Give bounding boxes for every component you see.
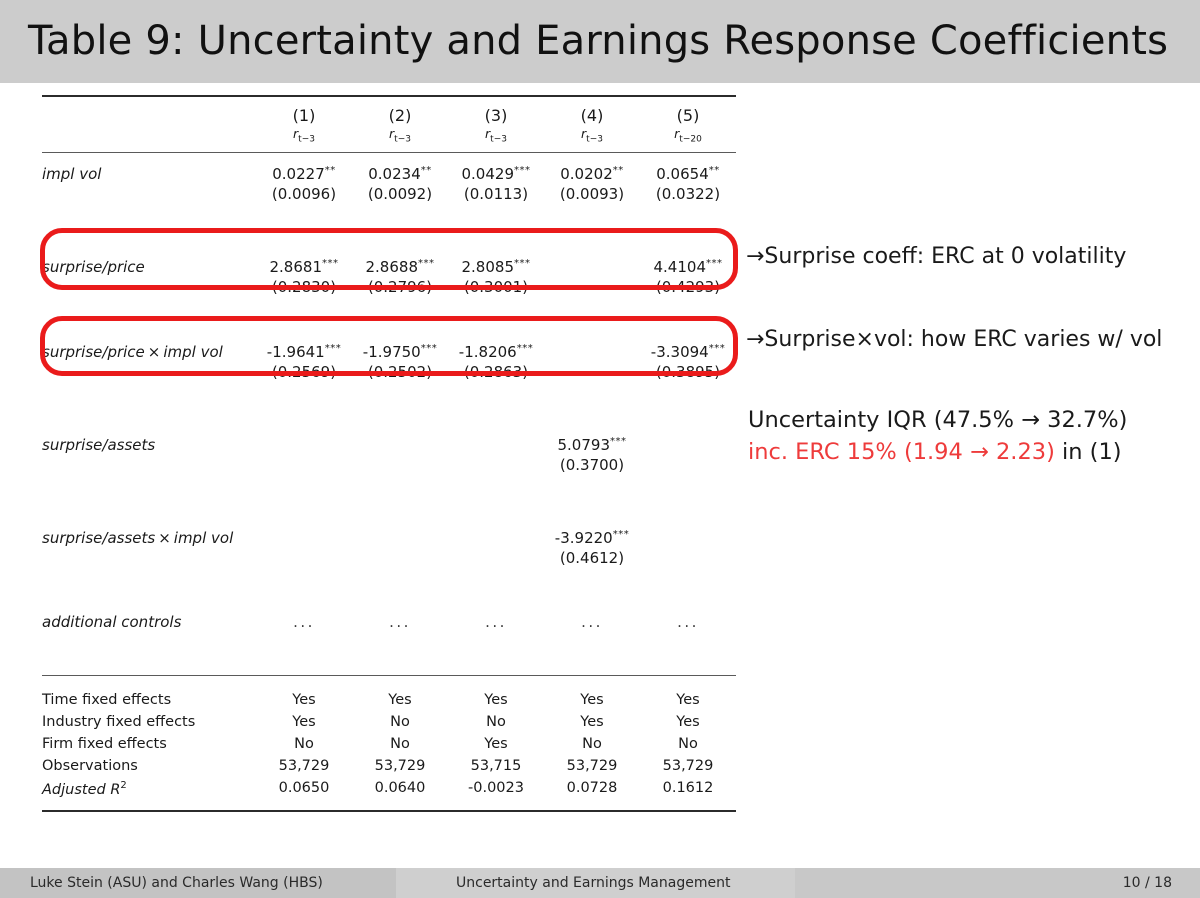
se-surprise-assets-2 [352,454,448,476]
se-surprise-price-5: (0.4293) [640,276,736,298]
stat-industry-fe-1: Yes [256,711,352,733]
slide-title-bar: Table 9: Uncertainty and Earnings Respon… [0,0,1200,83]
stat-industry-fe-4: Yes [544,711,640,733]
depvar-subscript-5: t−20 [679,135,702,145]
coef-surprise-price-5: 4.4104*** [640,249,736,276]
se-surprise-assets-4: (0.3700) [544,454,640,476]
stat-adjusted-r2-3: -0.0023 [448,777,544,801]
coef-value: -1.8206 [459,343,517,361]
table-row: surprise/assets×impl vol -3.9220*** [42,520,736,547]
depvar-1: rt−3 [256,126,352,152]
significance-stars: ** [613,165,624,176]
table-row: surprise/assets 5.0793*** [42,427,736,454]
stat-firm-fe-5: No [640,733,736,755]
se-surprise-price-vol-1: (0.2569) [256,361,352,383]
se-surprise-price-3: (0.3001) [448,276,544,298]
se-surprise-assets-3 [448,454,544,476]
page-title: Table 9: Uncertainty and Earnings Respon… [28,18,1168,64]
controls-dots-2: ... [352,613,448,631]
table-row-se: (0.2830) (0.2796) (0.3001) (0.4293) [42,276,736,298]
table-header-depvars: rt−3 rt−3 rt−3 rt−3 rt−20 [42,126,736,152]
coef-surprise-assets-1 [256,427,352,454]
controls-dots-4: ... [544,613,640,631]
coef-impl-vol-3: 0.0429*** [448,156,544,183]
stat-observations-3: 53,715 [448,755,544,777]
regression-table: (1) (2) (3) (4) (5) rt−3 rt−3 rt−3 rt−3 … [42,95,736,815]
footer-title: Uncertainty and Earnings Management [456,875,730,891]
significance-stars: *** [421,343,438,354]
significance-stars: *** [709,343,726,354]
significance-stars: ** [421,165,432,176]
controls-dots-5: ... [640,613,736,631]
coef-value: 5.0793 [558,436,611,454]
coef-surprise-assets-4: 5.0793*** [544,427,640,454]
se-impl-vol-1: (0.0096) [256,183,352,205]
table-row-se: (0.3700) [42,454,736,476]
se-surprise-price-1: (0.2830) [256,276,352,298]
annotation-surprise-coeff: →Surprise coeff: ERC at 0 volatility [746,242,1126,272]
stat-observations-1: 53,729 [256,755,352,777]
footer-authors: Luke Stein (ASU) and Charles Wang (HBS) [30,875,323,891]
table-row-se: (0.4612) [42,547,736,569]
stat-time-fe-4: Yes [544,689,640,711]
row-label-surprise-assets: surprise/assets [42,427,256,454]
stats-row-time-fe: Time fixed effects Yes Yes Yes Yes Yes [42,689,736,711]
stat-industry-fe-3: No [448,711,544,733]
se-surprise-price-vol-4 [544,361,640,383]
coef-value: 2.8085 [462,258,515,276]
stat-label-text: Adjusted R [42,781,120,797]
coef-value: -1.9641 [267,343,325,361]
significance-stars: *** [322,258,339,269]
stat-industry-fe-5: Yes [640,711,736,733]
row-label-surprise-price: surprise/price [42,249,256,276]
depvar-4: rt−3 [544,126,640,152]
significance-stars: ** [709,165,720,176]
stat-time-fe-2: Yes [352,689,448,711]
stat-label-adjusted-r2: Adjusted R2 [42,777,256,801]
stat-adjusted-r2-1: 0.0650 [256,777,352,801]
coef-value: 0.0227 [272,165,325,183]
coef-value: 2.8688 [366,258,419,276]
stat-label-firm-fe: Firm fixed effects [42,733,256,755]
se-label-blank [42,361,256,383]
coef-value: 0.0234 [368,165,421,183]
coef-surprise-price-vol-1: -1.9641*** [256,334,352,361]
coef-surprise-assets-vol-1 [256,520,352,547]
coef-surprise-assets-vol-4: -3.9220*** [544,520,640,547]
annotation-iqr-column-ref: in (1) [1055,439,1122,465]
se-surprise-price-vol-2: (0.2502) [352,361,448,383]
table-header-numbers: (1) (2) (3) (4) (5) [42,100,736,126]
depvar-2: rt−3 [352,126,448,152]
footer-page-number: 10 / 18 [1123,875,1172,891]
coef-surprise-price-vol-3: -1.8206*** [448,334,544,361]
coef-value: -3.3094 [651,343,709,361]
row-spacer [42,383,736,427]
depvar-subscript-1: t−3 [298,135,315,145]
label-part-pre: surprise/assets [42,529,155,547]
annotation-surprise-vol: →Surprise×vol: how ERC varies w/ vol [746,325,1162,355]
coef-value: 4.4104 [654,258,707,276]
column-header-2: (2) [352,100,448,126]
stat-label-time-fe: Time fixed effects [42,689,256,711]
se-surprise-assets-vol-2 [352,547,448,569]
se-surprise-assets-vol-5 [640,547,736,569]
coef-value: 0.0202 [560,165,613,183]
se-surprise-price-vol-5: (0.3895) [640,361,736,383]
coef-impl-vol-2: 0.0234** [352,156,448,183]
se-surprise-price-2: (0.2796) [352,276,448,298]
coef-surprise-price-vol-5: -3.3094*** [640,334,736,361]
row-spacer [42,298,736,334]
slide-footer: Luke Stein (ASU) and Charles Wang (HBS) … [0,868,1200,898]
se-impl-vol-4: (0.0093) [544,183,640,205]
stat-firm-fe-1: No [256,733,352,755]
depvar-3: rt−3 [448,126,544,152]
annotation-iqr-erc-red: inc. ERC 15% (1.94 → 2.23) [748,439,1055,465]
row-label-additional-controls: additional controls [42,613,256,631]
se-surprise-assets-vol-4: (0.4612) [544,547,640,569]
multiply-icon: × [145,343,164,361]
depvar-corner-blank [42,126,256,152]
coef-value: -3.9220 [555,529,613,547]
se-label-blank [42,183,256,205]
column-header-5: (5) [640,100,736,126]
coef-surprise-assets-5 [640,427,736,454]
depvar-subscript-4: t−3 [586,135,603,145]
significance-stars: *** [514,258,531,269]
se-label-blank [42,547,256,569]
row-label-surprise-assets-x-impl-vol: surprise/assets×impl vol [42,520,256,547]
stats-row-firm-fe: Firm fixed effects No No Yes No No [42,733,736,755]
annotation-uncertainty-iqr: Uncertainty IQR (47.5% → 32.7%) inc. ERC… [748,405,1127,469]
row-label-impl-vol: impl vol [42,156,256,183]
se-impl-vol-3: (0.0113) [448,183,544,205]
row-spacer [42,679,736,689]
se-surprise-assets-vol-1 [256,547,352,569]
significance-stars: *** [517,343,534,354]
depvar-subscript-2: t−3 [394,135,411,145]
coef-surprise-price-3: 2.8085*** [448,249,544,276]
table-rule-bottom [42,811,736,815]
coef-surprise-price-vol-4 [544,334,640,361]
significance-stars: ** [325,165,336,176]
slide-body: (1) (2) (3) (4) (5) rt−3 rt−3 rt−3 rt−3 … [0,83,1200,865]
table-row-se: (0.0096) (0.0092) (0.0113) (0.0093) (0.0… [42,183,736,205]
table-row-additional-controls: additional controls ... ... ... ... ... [42,613,736,631]
depvar-subscript-3: t−3 [490,135,507,145]
table-row: surprise/price×impl vol -1.9641*** -1.97… [42,334,736,361]
stat-firm-fe-2: No [352,733,448,755]
column-header-4: (4) [544,100,640,126]
se-surprise-assets-vol-3 [448,547,544,569]
column-header-1: (1) [256,100,352,126]
coef-surprise-price-4 [544,249,640,276]
stat-time-fe-1: Yes [256,689,352,711]
coef-surprise-assets-vol-2 [352,520,448,547]
coef-surprise-price-1: 2.8681*** [256,249,352,276]
stat-adjusted-r2-4: 0.0728 [544,777,640,801]
se-surprise-assets-1 [256,454,352,476]
row-spacer [42,800,736,811]
row-spacer [42,476,736,520]
row-spacer [42,569,736,613]
label-part-post: impl vol [174,529,233,547]
significance-stars: *** [514,165,531,176]
se-label-blank [42,454,256,476]
coef-surprise-assets-2 [352,427,448,454]
coef-value: 0.0429 [462,165,515,183]
stat-time-fe-5: Yes [640,689,736,711]
stat-firm-fe-4: No [544,733,640,755]
stat-label-observations: Observations [42,755,256,777]
significance-stars: *** [613,529,630,540]
significance-stars: *** [418,258,435,269]
controls-dots-3: ... [448,613,544,631]
stats-row-observations: Observations 53,729 53,729 53,715 53,729… [42,755,736,777]
se-surprise-price-vol-3: (0.2863) [448,361,544,383]
table-row: surprise/price 2.8681*** 2.8688*** 2.808… [42,249,736,276]
significance-stars: *** [610,436,627,447]
stats-row-adjusted-r2: Adjusted R2 0.0650 0.0640 -0.0023 0.0728… [42,777,736,801]
stat-adjusted-r2-5: 0.1612 [640,777,736,801]
coef-impl-vol-1: 0.0227** [256,156,352,183]
label-part-pre: surprise/price [42,343,145,361]
stat-adjusted-r2-2: 0.0640 [352,777,448,801]
stats-row-industry-fe: Industry fixed effects Yes No No Yes Yes [42,711,736,733]
stat-industry-fe-2: No [352,711,448,733]
row-spacer [42,205,736,249]
coef-surprise-price-vol-2: -1.9750*** [352,334,448,361]
table-row-se: (0.2569) (0.2502) (0.2863) (0.3895) [42,361,736,383]
se-impl-vol-2: (0.0092) [352,183,448,205]
coef-surprise-assets-vol-3 [448,520,544,547]
stat-observations-2: 53,729 [352,755,448,777]
table-row: impl vol 0.0227** 0.0234** 0.0429*** 0.0… [42,156,736,183]
stat-firm-fe-3: Yes [448,733,544,755]
significance-stars: *** [706,258,723,269]
coef-value: -1.9750 [363,343,421,361]
stat-observations-5: 53,729 [640,755,736,777]
stat-label-industry-fe: Industry fixed effects [42,711,256,733]
coef-surprise-price-2: 2.8688*** [352,249,448,276]
row-label-surprise-price-x-impl-vol: surprise/price×impl vol [42,334,256,361]
depvar-5: rt−20 [640,126,736,152]
annotation-iqr-line1: Uncertainty IQR (47.5% → 32.7%) [748,405,1127,437]
regression-table-container: (1) (2) (3) (4) (5) rt−3 rt−3 rt−3 rt−3 … [42,95,736,815]
coef-surprise-assets-3 [448,427,544,454]
row-spacer [42,631,736,676]
coef-impl-vol-4: 0.0202** [544,156,640,183]
se-surprise-assets-5 [640,454,736,476]
coef-impl-vol-5: 0.0654** [640,156,736,183]
coef-value: 0.0654 [656,165,709,183]
coef-surprise-assets-vol-5 [640,520,736,547]
column-header-3: (3) [448,100,544,126]
header-corner-blank [42,100,256,126]
se-surprise-price-4 [544,276,640,298]
annotation-iqr-line2: inc. ERC 15% (1.94 → 2.23) in (1) [748,437,1127,469]
significance-stars: *** [325,343,342,354]
se-label-blank [42,276,256,298]
label-part-post: impl vol [163,343,222,361]
stat-time-fe-3: Yes [448,689,544,711]
controls-dots-1: ... [256,613,352,631]
multiply-icon: × [155,529,174,547]
stat-observations-4: 53,729 [544,755,640,777]
stat-label-exponent: 2 [120,780,126,791]
coef-value: 2.8681 [270,258,323,276]
se-impl-vol-5: (0.0322) [640,183,736,205]
